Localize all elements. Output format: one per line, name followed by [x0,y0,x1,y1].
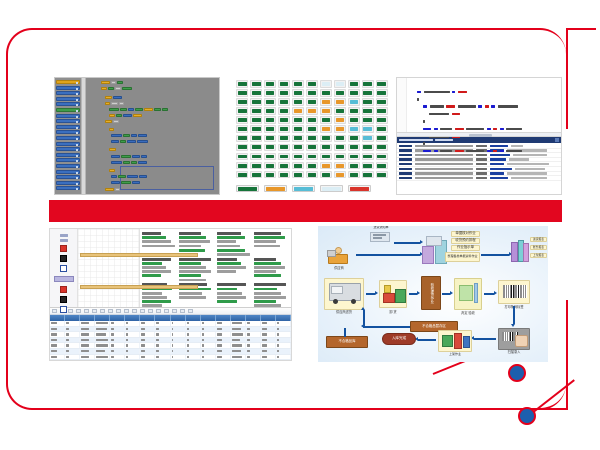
toolbar-button[interactable] [180,309,185,314]
table-cell[interactable] [50,332,65,337]
table-cell[interactable] [261,338,276,343]
data-table[interactable] [50,307,291,361]
status-cell[interactable] [306,80,318,88]
toolbar-button[interactable] [116,309,121,314]
toolbar-button[interactable] [76,309,81,314]
table-cell[interactable] [201,349,216,354]
status-cell[interactable] [292,153,304,161]
workspace-block[interactable] [110,134,148,137]
table-cell[interactable] [231,349,246,354]
status-cell[interactable] [348,135,360,143]
table-cell[interactable] [95,343,110,348]
workspace-block[interactable] [100,81,124,84]
io-indicator-dark[interactable] [60,255,67,262]
table-row[interactable] [50,360,291,361]
table-cell[interactable] [65,327,80,332]
status-cell[interactable] [362,162,374,170]
palette-block[interactable] [56,136,80,140]
status-cell[interactable] [362,80,374,88]
status-cell[interactable] [236,144,248,152]
status-cell[interactable] [250,89,262,97]
node-doc-check-4[interactable]: 整理各类单据资料作业 [445,252,480,262]
table-cell[interactable] [125,343,140,348]
status-cell[interactable] [250,80,262,88]
status-cell[interactable] [334,162,346,170]
table-cell[interactable] [276,360,291,361]
toolbar-button[interactable] [100,309,105,314]
workspace-block[interactable] [108,114,143,117]
status-cell[interactable] [348,153,360,161]
ladder-tag-group[interactable] [254,258,289,282]
node-doc-check-3[interactable]: 作业指示单 [451,245,480,251]
table-cell[interactable] [216,321,231,326]
table-cell[interactable] [171,355,186,360]
status-cell[interactable] [264,116,276,124]
table-cell[interactable] [246,360,261,361]
status-cell[interactable] [292,125,304,133]
table-cell[interactable] [125,332,140,337]
status-cell[interactable] [292,144,304,152]
table-cell[interactable] [50,343,65,348]
status-cell[interactable] [376,125,388,133]
panel-ladder-logic-editor[interactable] [49,228,292,361]
status-cell[interactable] [236,125,248,133]
status-cell[interactable] [264,144,276,152]
table-cell[interactable] [231,321,246,326]
node-complete[interactable]: 入库完成 [382,333,416,345]
table-cell[interactable] [171,321,186,326]
table-cell[interactable] [110,327,125,332]
status-cell[interactable] [278,153,290,161]
toolbar-button[interactable] [68,309,73,314]
status-cell[interactable] [348,162,360,170]
status-cell[interactable] [250,153,262,161]
ladder-tag-group[interactable] [254,283,289,307]
status-cell[interactable] [334,107,346,115]
palette-block[interactable] [56,147,80,151]
table-cell[interactable] [140,360,155,361]
workspace-block[interactable] [110,181,141,184]
table-cell[interactable] [65,343,80,348]
status-cell[interactable] [348,125,360,133]
workspace-block[interactable] [110,161,148,164]
status-cell[interactable] [236,171,248,179]
status-cell[interactable] [334,98,346,106]
status-cell[interactable] [376,162,388,170]
status-cell[interactable] [320,125,332,133]
toolbar-button[interactable] [156,309,161,314]
table-cell[interactable] [261,327,276,332]
ladder-tag-group[interactable] [142,258,177,282]
code-line[interactable] [411,89,556,94]
status-cell[interactable] [292,162,304,170]
status-cell[interactable] [292,107,304,115]
status-cell[interactable] [320,171,332,179]
table-cell[interactable] [155,327,170,332]
table-cell[interactable] [216,349,231,354]
io-indicator-dark[interactable] [60,296,67,303]
status-cell[interactable] [306,135,318,143]
status-cell[interactable] [278,116,290,124]
table-cell[interactable] [155,332,170,337]
status-cell[interactable] [236,153,248,161]
table-cell[interactable] [125,321,140,326]
node-doc-check-2[interactable]: 收货预约排程 [451,238,480,244]
status-cell[interactable] [348,98,360,106]
table-cell[interactable] [80,321,95,326]
table-cell[interactable] [125,338,140,343]
io-indicator-red[interactable] [60,286,67,293]
table-cell[interactable] [261,321,276,326]
status-cell[interactable] [376,107,388,115]
status-cell[interactable] [306,144,318,152]
palette-block[interactable] [56,153,80,157]
status-cell[interactable] [334,144,346,152]
table-toolbar[interactable] [50,308,291,315]
status-cell[interactable] [376,98,388,106]
workspace-block[interactable] [104,96,123,99]
node-reject-store[interactable]: 不合格品库 [326,336,368,348]
table-cell[interactable] [246,321,261,326]
status-grid-cells[interactable] [236,80,388,178]
status-cell[interactable] [320,162,332,170]
table-cell[interactable] [155,355,170,360]
palette-block[interactable] [56,114,80,118]
palette-block[interactable] [56,125,80,129]
status-cell[interactable] [278,107,290,115]
table-cell[interactable] [95,349,110,354]
panel-block-programming-editor[interactable] [54,77,220,195]
status-cell[interactable] [292,116,304,124]
node-barcode-label[interactable] [498,280,530,304]
code-horizontal-scrollbar[interactable] [397,132,561,137]
table-cell[interactable] [186,355,201,360]
palette-block[interactable] [56,102,80,106]
ladder-tag-group[interactable] [217,232,252,256]
status-cell[interactable] [320,135,332,143]
status-cell[interactable] [348,107,360,115]
table-cell[interactable] [155,338,170,343]
status-cell[interactable] [362,98,374,106]
table-cell[interactable] [110,321,125,326]
toolbar-button[interactable] [52,309,57,314]
workspace-block[interactable] [110,140,149,143]
ladder-grid[interactable] [78,229,140,307]
status-cell[interactable] [264,153,276,161]
workspace-block[interactable] [108,148,117,151]
status-cell[interactable] [236,116,248,124]
status-cell[interactable] [376,80,388,88]
status-cell[interactable] [278,98,290,106]
table-cell[interactable] [65,349,80,354]
status-cell[interactable] [292,171,304,179]
table-cell[interactable] [155,343,170,348]
table-cell[interactable] [261,332,276,337]
table-cell[interactable] [246,332,261,337]
palette-block[interactable] [56,130,80,134]
table-cell[interactable] [50,321,65,326]
node-report-3[interactable]: 上架报表 [530,253,547,258]
table-cell[interactable] [65,321,80,326]
table-cell[interactable] [276,327,291,332]
table-cell[interactable] [246,343,261,348]
table-cell[interactable] [110,360,125,361]
table-cell[interactable] [201,338,216,343]
status-cell[interactable] [348,89,360,97]
status-cell[interactable] [362,144,374,152]
status-cell[interactable] [362,125,374,133]
palette-block[interactable] [56,97,80,101]
table-cell[interactable] [95,321,110,326]
status-cell[interactable] [250,135,262,143]
table-cell[interactable] [80,327,95,332]
status-cell[interactable] [362,135,374,143]
table-cell[interactable] [171,349,186,354]
status-cell[interactable] [376,144,388,152]
status-cell[interactable] [334,80,346,88]
status-cell[interactable] [292,89,304,97]
palette-block[interactable] [56,142,80,146]
status-cell[interactable] [292,80,304,88]
code-line[interactable] [411,126,556,131]
table-cell[interactable] [201,332,216,337]
toolbar-button[interactable] [188,309,193,314]
toolbar-button[interactable] [172,309,177,314]
table-cell[interactable] [171,327,186,332]
table-cell[interactable] [246,327,261,332]
status-cell[interactable] [264,125,276,133]
io-indicator-red[interactable] [60,245,67,252]
table-cell[interactable] [125,355,140,360]
table-cell[interactable] [155,360,170,361]
table-cell[interactable] [50,327,65,332]
toolbar-button[interactable] [132,309,137,314]
status-cell[interactable] [306,125,318,133]
status-cell[interactable] [278,80,290,88]
workspace-block[interactable] [110,155,148,158]
table-cell[interactable] [276,355,291,360]
status-cell[interactable] [306,98,318,106]
table-cell[interactable] [186,349,201,354]
toolbar-button[interactable] [124,309,129,314]
table-cell[interactable] [231,355,246,360]
table-cell[interactable] [171,343,186,348]
code-line[interactable] [411,112,556,117]
table-cell[interactable] [186,338,201,343]
status-cell[interactable] [320,153,332,161]
table-cell[interactable] [186,360,201,361]
table-cell[interactable] [201,343,216,348]
toolbar-button[interactable] [108,309,113,314]
table-cell[interactable] [201,327,216,332]
palette-block[interactable] [56,181,80,185]
status-cell[interactable] [334,135,346,143]
table-cell[interactable] [50,338,65,343]
palette-block[interactable] [56,186,80,190]
workspace-block[interactable] [110,175,148,178]
ladder-io-rail[interactable] [50,229,78,307]
table-cell[interactable] [231,343,246,348]
status-cell[interactable] [264,107,276,115]
status-cell[interactable] [306,107,318,115]
status-cell[interactable] [376,116,388,124]
status-cell[interactable] [292,98,304,106]
table-cell[interactable] [140,327,155,332]
table-cell[interactable] [65,332,80,337]
table-cell[interactable] [231,360,246,361]
table-cell[interactable] [231,327,246,332]
table-cell[interactable] [186,321,201,326]
table-cell[interactable] [80,349,95,354]
status-cell[interactable] [250,144,262,152]
ladder-tag-group[interactable] [217,258,252,282]
toolbar-button[interactable] [140,309,145,314]
table-cell[interactable] [140,349,155,354]
table-cell[interactable] [186,332,201,337]
table-cell[interactable] [95,355,110,360]
io-indicator-contact[interactable] [60,265,67,272]
status-cell[interactable] [376,89,388,97]
table-cell[interactable] [246,349,261,354]
table-cell[interactable] [201,355,216,360]
table-cell[interactable] [276,343,291,348]
table-cell[interactable] [110,332,125,337]
table-cell[interactable] [65,360,80,361]
status-cell[interactable] [348,80,360,88]
status-cell[interactable] [250,107,262,115]
table-cell[interactable] [125,360,140,361]
status-cell[interactable] [348,116,360,124]
status-cell[interactable] [362,116,374,124]
table-cell[interactable] [201,360,216,361]
status-cell[interactable] [250,171,262,179]
toolbar-button[interactable] [148,309,153,314]
table-cell[interactable] [171,360,186,361]
status-cell[interactable] [236,107,248,115]
node-doc-check-1[interactable]: 单据核对作业 [451,231,480,237]
code-line[interactable] [411,119,556,124]
ladder-tag-group[interactable] [254,232,289,256]
status-cell[interactable] [320,80,332,88]
status-cell[interactable] [278,125,290,133]
status-cell[interactable] [250,116,262,124]
status-cell[interactable] [236,162,248,170]
table-cell[interactable] [186,343,201,348]
ladder-rung[interactable] [80,253,198,257]
palette-block[interactable] [56,164,80,168]
table-cell[interactable] [110,349,125,354]
workspace-block[interactable] [104,188,121,191]
node-quality-check[interactable] [454,278,482,310]
table-cell[interactable] [140,338,155,343]
table-cell[interactable] [231,338,246,343]
status-cell[interactable] [306,171,318,179]
code-line[interactable] [411,82,556,87]
table-cell[interactable] [80,355,95,360]
table-cell[interactable] [246,338,261,343]
table-cell[interactable] [95,327,110,332]
code-line[interactable] [411,97,556,102]
table-cell[interactable] [65,338,80,343]
status-cell[interactable] [348,171,360,179]
node-report-2[interactable]: 账务报表 [530,245,547,250]
ladder-upper-area[interactable] [50,229,291,307]
palette-block[interactable] [56,175,80,179]
table-cell[interactable] [125,327,140,332]
node-unload[interactable] [379,280,407,308]
node-scan-input[interactable] [498,328,530,350]
table-cell[interactable] [216,327,231,332]
status-cell[interactable] [320,144,332,152]
status-cell[interactable] [362,153,374,161]
status-cell[interactable] [306,116,318,124]
status-cell[interactable] [264,135,276,143]
table-cell[interactable] [140,332,155,337]
table-cell[interactable] [80,343,95,348]
status-cell[interactable] [278,171,290,179]
ladder-rung[interactable] [80,285,198,289]
status-cell[interactable] [278,89,290,97]
table-cell[interactable] [65,355,80,360]
table-cell[interactable] [261,355,276,360]
panel-equipment-status-grid[interactable] [236,80,388,200]
status-cell[interactable] [264,171,276,179]
toolbar-button[interactable] [84,309,89,314]
status-cell[interactable] [362,107,374,115]
workspace-block[interactable] [104,102,125,105]
table-cell[interactable] [140,321,155,326]
status-cell[interactable] [320,116,332,124]
ladder-tag-text-columns[interactable] [140,229,291,307]
status-cell[interactable] [320,107,332,115]
table-cell[interactable] [171,332,186,337]
palette-block[interactable] [56,170,80,174]
code-line[interactable] [411,141,556,146]
table-cell[interactable] [140,343,155,348]
status-cell[interactable] [306,89,318,97]
table-cell[interactable] [50,349,65,354]
status-cell[interactable] [334,125,346,133]
workspace-block[interactable] [108,169,116,172]
table-cell[interactable] [140,355,155,360]
code-editor-area[interactable] [397,78,561,132]
status-cell[interactable] [320,98,332,106]
status-cell[interactable] [236,135,248,143]
status-cell[interactable] [236,98,248,106]
status-cell[interactable] [376,135,388,143]
workspace-block[interactable] [108,108,169,111]
table-cell[interactable] [201,321,216,326]
console-log-row[interactable] [397,176,561,181]
table-cell[interactable] [171,338,186,343]
status-cell[interactable] [250,125,262,133]
table-cell[interactable] [216,360,231,361]
toolbar-button[interactable] [92,309,97,314]
table-body[interactable] [50,321,291,361]
status-cell[interactable] [278,162,290,170]
status-cell[interactable] [376,153,388,161]
table-cell[interactable] [216,338,231,343]
status-cell[interactable] [264,98,276,106]
status-cell[interactable] [278,144,290,152]
table-cell[interactable] [95,332,110,337]
status-cell[interactable] [376,171,388,179]
table-cell[interactable] [110,338,125,343]
node-upper-dot[interactable] [508,364,526,382]
table-cell[interactable] [186,327,201,332]
io-indicator-contact[interactable] [60,306,67,313]
table-cell[interactable] [216,343,231,348]
